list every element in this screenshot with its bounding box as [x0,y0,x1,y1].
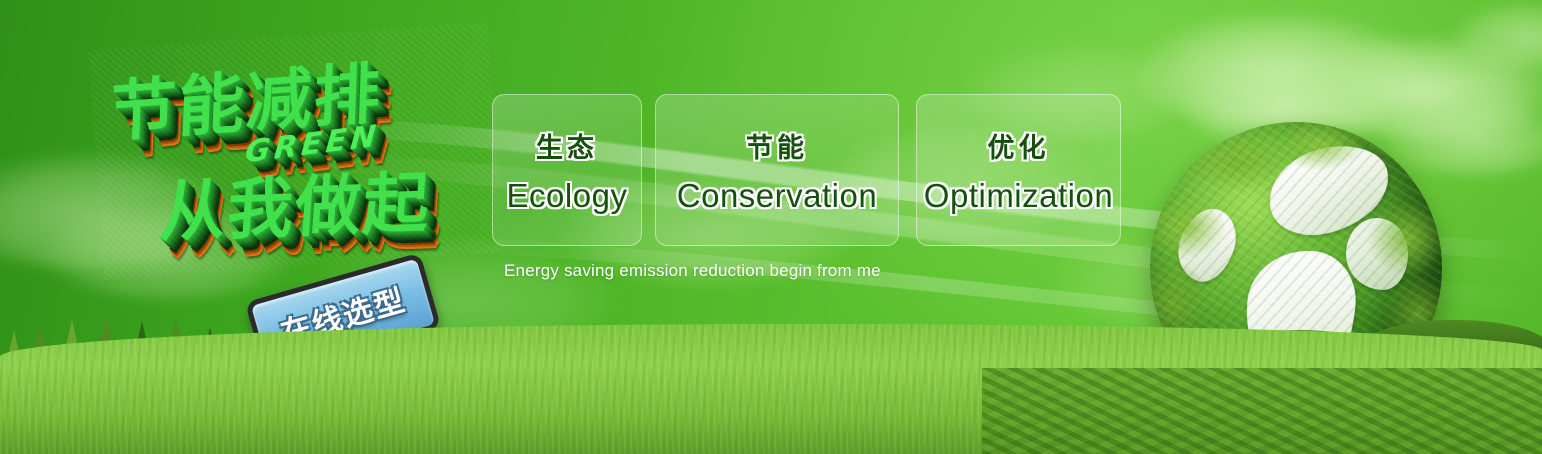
feature-card-cn-label: 生态 [536,126,598,165]
feature-card-cn-label: 优化 [988,126,1050,165]
leaf-litter-icon [982,368,1542,454]
feature-card-conservation[interactable]: 节能 Conservation [655,94,899,246]
feature-card-en-label: Optimization [924,177,1113,215]
feature-card-ecology[interactable]: 生态 Ecology [492,94,642,246]
eco-banner: 节能减排 GREEN 从我做起 在线选型 生态 Ecology 节能 Conse… [0,0,1542,454]
tagline-text: Energy saving emission reduction begin f… [504,261,881,281]
feature-card-optimization[interactable]: 优化 Optimization [916,94,1121,246]
cloud-icon [1380,96,1542,176]
feature-card-cn-label: 节能 [746,126,808,165]
headline-artwork: 节能减排 GREEN 从我做起 [88,22,503,279]
feature-card-en-label: Conservation [677,177,877,215]
headline-line-2: 从我做起 [157,149,435,255]
feature-card-en-label: Ecology [507,177,628,215]
